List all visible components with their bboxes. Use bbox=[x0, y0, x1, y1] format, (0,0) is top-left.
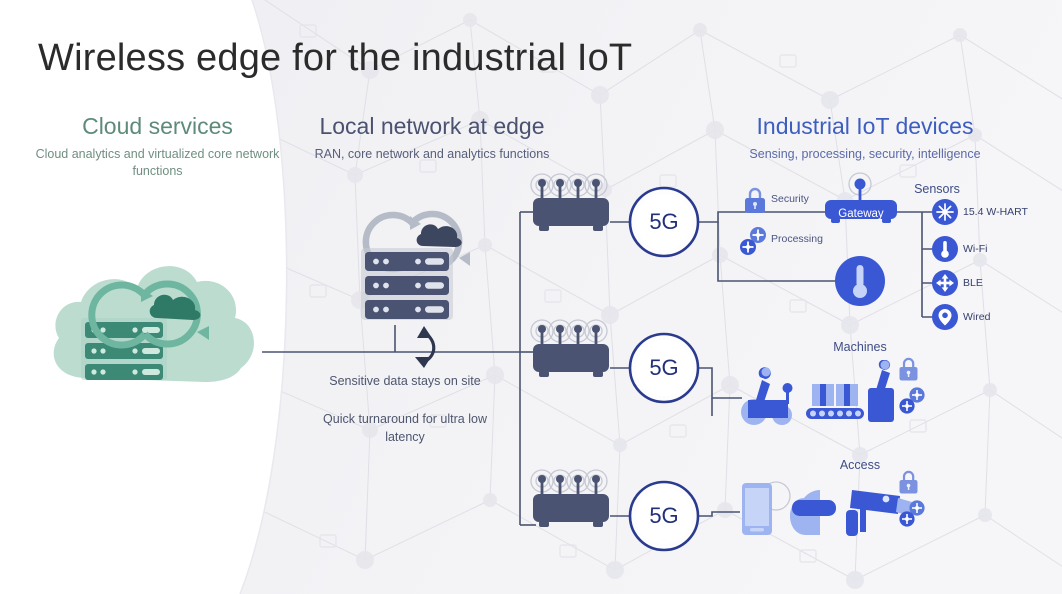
arrow-head-down bbox=[415, 357, 431, 368]
location-pin-icon bbox=[932, 304, 958, 330]
snowflake-icon bbox=[932, 199, 958, 225]
sensor-label-1: Wi-Fi bbox=[963, 243, 988, 255]
antenna-array bbox=[531, 174, 607, 200]
radio-node-1-label: 5G bbox=[626, 209, 702, 235]
column-subtitle-local: RAN, core network and analytics function… bbox=[282, 146, 582, 163]
security-label: Security bbox=[771, 193, 809, 205]
antenna-array bbox=[531, 470, 607, 496]
page-title: Wireless edge for the industrial IoT bbox=[38, 38, 798, 80]
smartphone-icon bbox=[742, 482, 790, 535]
lock-icon bbox=[900, 359, 918, 381]
gateway-label: Gateway bbox=[826, 208, 896, 220]
base-station-3 bbox=[528, 468, 614, 530]
column-subtitle-cloud: Cloud analytics and virtualized core net… bbox=[25, 146, 290, 180]
edge-note-low-latency: Quick turnaround for ultra low latency bbox=[320, 410, 490, 446]
radio-node-2-label: 5G bbox=[626, 355, 702, 381]
processing-nodes-icon bbox=[738, 226, 770, 256]
radio-node-3-label: 5G bbox=[626, 503, 702, 529]
sensor-label-0: 15.4 W-HART bbox=[963, 206, 1028, 218]
thermometer-device-icon bbox=[834, 255, 886, 307]
processing-label: Processing bbox=[771, 233, 823, 245]
diagram-canvas: 5G 5G 5G Security Processing bbox=[0, 0, 1062, 594]
sensor-label-3: Wired bbox=[963, 311, 990, 323]
lock-icon bbox=[742, 186, 768, 214]
access-graphic bbox=[734, 478, 914, 540]
edge-note-sensitive-data: Sensitive data stays on site bbox=[320, 372, 490, 390]
robot-arm-icon bbox=[741, 367, 793, 425]
sensors-group-label: Sensors bbox=[882, 182, 992, 196]
machines-graphic bbox=[736, 360, 916, 430]
column-heading-cloud: Cloud services bbox=[25, 113, 290, 139]
base-station-1 bbox=[528, 172, 614, 234]
antenna-array bbox=[531, 320, 607, 346]
factory-robot-icon bbox=[868, 360, 894, 422]
column-heading-devices: Industrial IoT devices bbox=[700, 113, 1030, 139]
processing-nodes-icon bbox=[899, 387, 924, 413]
base-station-2 bbox=[528, 318, 614, 380]
edge-server-graphic bbox=[345, 200, 495, 330]
access-security-processing-icons bbox=[896, 468, 930, 534]
machines-security-processing-icons bbox=[896, 355, 930, 421]
column-heading-local: Local network at edge bbox=[282, 113, 582, 139]
cloud-services-graphic bbox=[45, 250, 275, 405]
thermometer-icon bbox=[932, 236, 958, 262]
column-subtitle-devices: Sensing, processing, security, intellige… bbox=[700, 146, 1030, 163]
vr-headset-icon bbox=[790, 490, 836, 535]
machines-group-label: Machines bbox=[800, 340, 920, 354]
move-arrows-icon bbox=[932, 270, 958, 296]
processing-nodes-icon bbox=[899, 500, 924, 526]
sensor-label-2: BLE bbox=[963, 277, 983, 289]
conveyor-icon bbox=[806, 384, 864, 419]
lock-icon bbox=[900, 472, 918, 494]
